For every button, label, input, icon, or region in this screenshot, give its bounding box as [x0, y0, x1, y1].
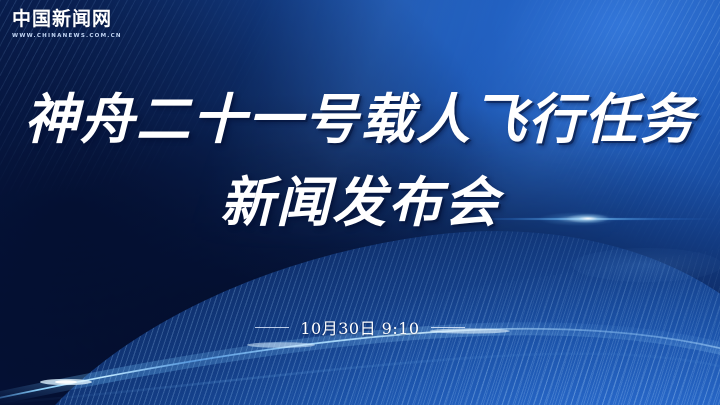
rule-left-decoration [255, 327, 289, 328]
lens-flare-ghost [572, 248, 720, 282]
chinanews-logo: 中国新闻网 WWW.CHINANEWS.COM.CN [12, 10, 122, 39]
rule-right-decoration [431, 327, 465, 328]
logo-wordmark: 中国新闻网 [12, 10, 122, 29]
page-title: 神舟二十一号载人飞行任务 新闻发布会 [0, 92, 720, 231]
schedule-row: 10月30日 9:10 [0, 315, 720, 339]
title-line-secondary: 新闻发布会 [0, 175, 720, 232]
title-line-primary: 神舟二十一号载人飞行任务 [0, 92, 720, 149]
broadcast-title-card: 中国新闻网 WWW.CHINANEWS.COM.CN 神舟二十一号载人飞行任务 … [0, 0, 720, 405]
schedule-datetime: 10月30日 9:10 [300, 315, 419, 339]
logo-website-url: WWW.CHINANEWS.COM.CN [12, 33, 122, 39]
